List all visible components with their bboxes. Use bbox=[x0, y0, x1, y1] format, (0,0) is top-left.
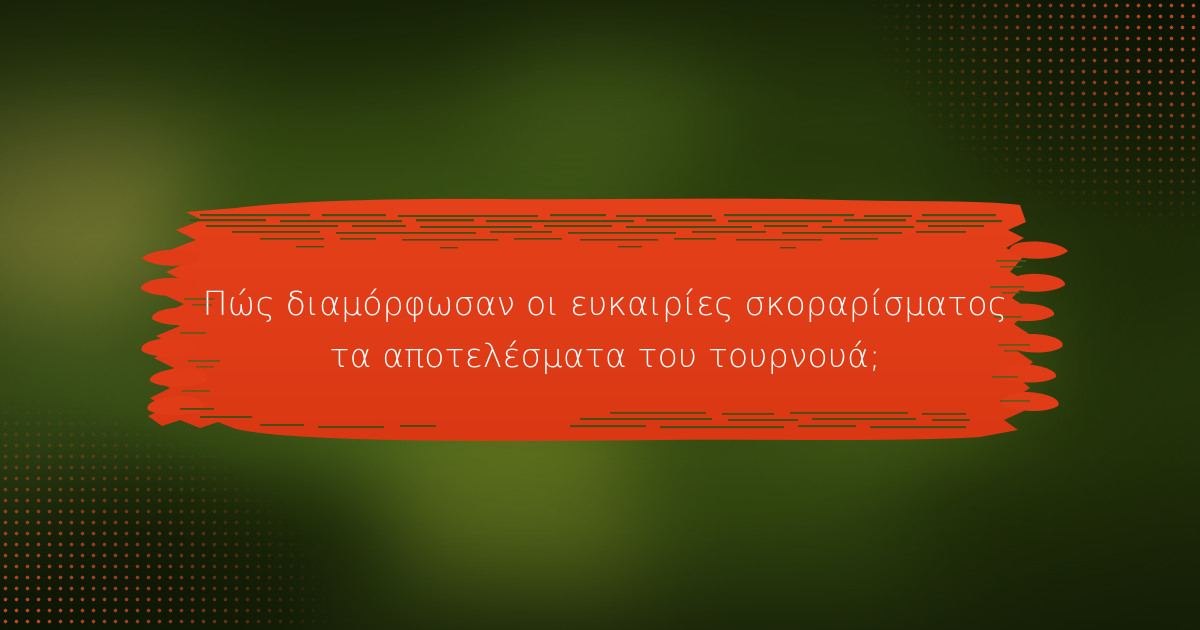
social-share-card: Πώς διαμόρφωσαν οι ευκαιρίες σκοραρίσματ… bbox=[0, 0, 1200, 630]
headline-text: Πώς διαμόρφωσαν οι ευκαιρίες σκοραρίσματ… bbox=[150, 278, 1060, 382]
